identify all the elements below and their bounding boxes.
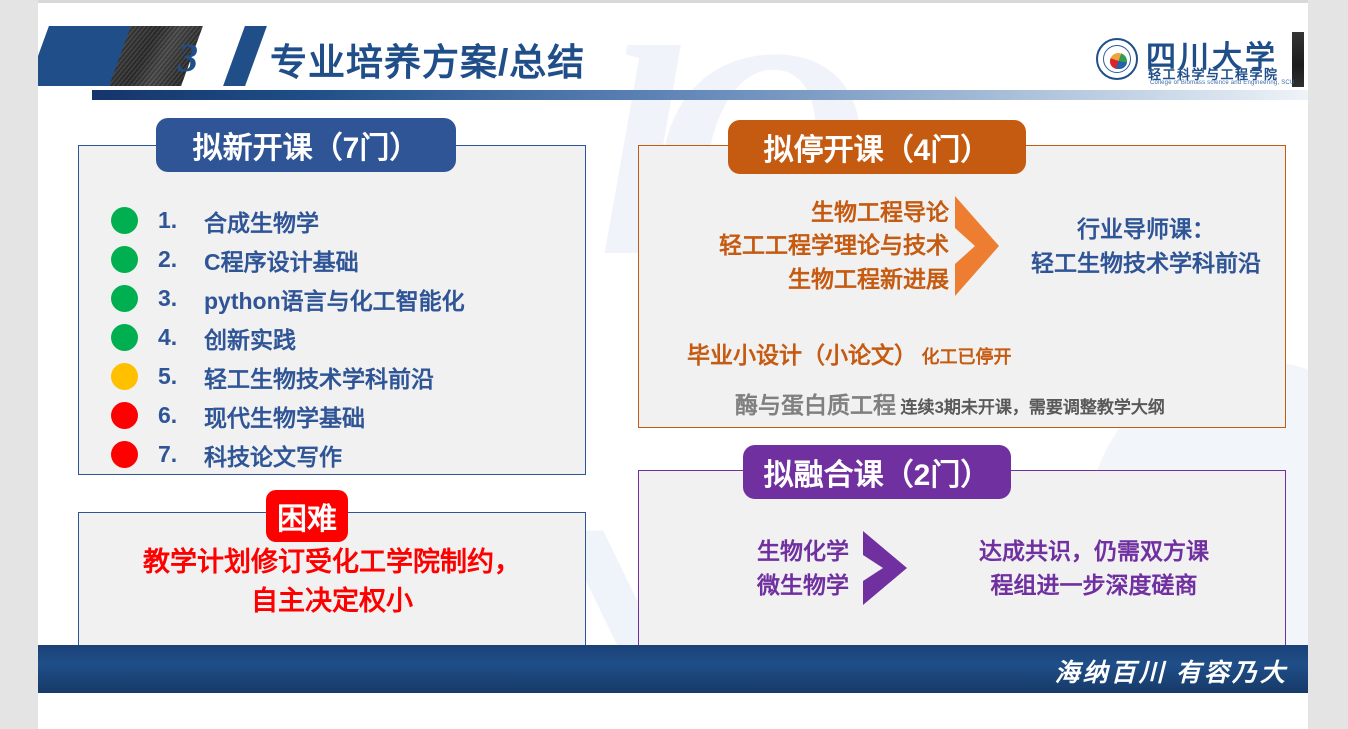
course-name: 合成生物学 bbox=[204, 204, 319, 238]
course-index: 2. bbox=[158, 246, 204, 273]
chevron-right-icon bbox=[951, 194, 1003, 298]
footer-motto: 海纳百川 有容乃大 bbox=[1055, 653, 1288, 689]
badge-new-courses: 拟新开课（7门） bbox=[156, 118, 456, 172]
page-title: 专业培养方案/总结 bbox=[270, 32, 585, 86]
stop-courses-flow: 生物工程导论 轻工工程学理论与技术 生物工程新进展 行业导师课： 轻工生物技术学… bbox=[639, 194, 1287, 298]
footer-white-strip bbox=[38, 693, 1308, 729]
course-index: 4. bbox=[158, 324, 204, 351]
course-name: 轻工生物技术学科前沿 bbox=[204, 360, 434, 394]
list-item[interactable]: 1. 合成生物学 bbox=[111, 201, 465, 240]
seal-flame-icon bbox=[1110, 53, 1127, 69]
stop-to-line-1: 行业导师课： bbox=[1005, 212, 1287, 247]
status-dot-icon bbox=[111, 285, 138, 312]
slide-header: 3 专业培养方案/总结 四川大学 轻工科学与工程学院 College of Bi… bbox=[38, 0, 1308, 104]
course-name: 创新实践 bbox=[204, 321, 296, 355]
list-item[interactable]: 4. 创新实践 bbox=[111, 318, 465, 357]
stop-note-1: 毕业小设计（小论文） 化工已停开 bbox=[687, 336, 1011, 370]
list-item[interactable]: 5. 轻工生物技术学科前沿 bbox=[111, 357, 465, 396]
status-dot-icon bbox=[111, 363, 138, 390]
status-dot-icon bbox=[111, 402, 138, 429]
course-index: 6. bbox=[158, 402, 204, 429]
stop-to-result: 行业导师课： 轻工生物技术学科前沿 bbox=[1005, 212, 1287, 281]
course-name: C程序设计基础 bbox=[204, 243, 359, 277]
section-number: 3 bbox=[178, 34, 198, 81]
panel-new-courses: 1. 合成生物学 2. C程序设计基础 3. python语言与化工智能化 4.… bbox=[78, 145, 586, 475]
university-seal-icon bbox=[1096, 38, 1138, 80]
header-underline bbox=[92, 90, 1308, 100]
slide-canvas: lQ NC 1896 3 专业培养方案/总结 四川大学 轻工科学与工程学院 Co… bbox=[38, 0, 1308, 729]
course-index: 1. bbox=[158, 207, 204, 234]
header-accent-slash bbox=[223, 26, 267, 86]
status-dot-icon bbox=[111, 207, 138, 234]
difficulty-line-1: 教学计划修订受化工学院制约， bbox=[79, 543, 585, 582]
merge-to-line-2: 程组进一步深度磋商 bbox=[921, 568, 1267, 603]
list-item[interactable]: 6. 现代生物学基础 bbox=[111, 396, 465, 435]
merge-to-result: 达成共识，仍需双方课 程组进一步深度磋商 bbox=[921, 534, 1287, 603]
stop-from-course-2: 轻工工程学理论与技术 bbox=[639, 229, 949, 262]
stop-to-line-2: 轻工生物技术学科前沿 bbox=[1005, 246, 1287, 281]
stop-from-course-1: 生物工程导论 bbox=[639, 196, 949, 229]
stop-note-1-course: 毕业小设计（小论文） bbox=[687, 342, 917, 368]
badge-difficulty: 困难 bbox=[266, 490, 348, 542]
stop-from-courses: 生物工程导论 轻工工程学理论与技术 生物工程新进展 bbox=[639, 196, 949, 296]
list-item[interactable]: 2. C程序设计基础 bbox=[111, 240, 465, 279]
badge-merge-courses: 拟融合课（2门） bbox=[743, 445, 1011, 499]
merge-from-course-1: 生物化学 bbox=[639, 534, 849, 569]
status-dot-icon bbox=[111, 324, 138, 351]
status-dot-icon bbox=[111, 246, 138, 273]
university-logo: 四川大学 轻工科学与工程学院 College of Biomass scienc… bbox=[1096, 32, 1304, 90]
merge-from-course-2: 微生物学 bbox=[639, 568, 849, 603]
stop-note-1-comment: 化工已停开 bbox=[921, 347, 1011, 367]
list-item[interactable]: 7. 科技论文写作 bbox=[111, 435, 465, 474]
difficulty-line-2: 自主决定权小 bbox=[79, 582, 585, 621]
merge-to-line-1: 达成共识，仍需双方课 bbox=[921, 534, 1267, 569]
merge-courses-flow: 生物化学 微生物学 达成共识，仍需双方课 程组进一步深度磋商 bbox=[639, 529, 1287, 607]
list-item[interactable]: 3. python语言与化工智能化 bbox=[111, 279, 465, 318]
course-index: 5. bbox=[158, 363, 204, 390]
status-dot-icon bbox=[111, 441, 138, 468]
stop-note-2-course: 酶与蛋白质工程 bbox=[735, 392, 896, 418]
merge-from-courses: 生物化学 微生物学 bbox=[639, 534, 849, 603]
panel-stop-courses: 生物工程导论 轻工工程学理论与技术 生物工程新进展 行业导师课： 轻工生物技术学… bbox=[638, 145, 1286, 428]
course-name: 科技论文写作 bbox=[204, 438, 342, 472]
course-name: python语言与化工智能化 bbox=[204, 282, 465, 316]
stop-note-2: 酶与蛋白质工程 连续3期未开课，需要调整教学大纲 bbox=[735, 386, 1165, 420]
screenshot-root: lQ NC 1896 3 专业培养方案/总结 四川大学 轻工科学与工程学院 Co… bbox=[0, 0, 1348, 729]
course-name: 现代生物学基础 bbox=[204, 399, 365, 433]
chevron-right-icon bbox=[859, 529, 911, 607]
course-index: 3. bbox=[158, 285, 204, 312]
badge-stop-courses: 拟停开课（4门） bbox=[728, 120, 1026, 174]
logo-college-name-en: College of Biomass science and Engineeri… bbox=[1150, 80, 1294, 86]
new-course-list: 1. 合成生物学 2. C程序设计基础 3. python语言与化工智能化 4.… bbox=[111, 201, 465, 474]
slide-footer: 海纳百川 有容乃大 bbox=[38, 645, 1308, 693]
difficulty-text: 教学计划修订受化工学院制约， 自主决定权小 bbox=[79, 543, 585, 621]
stop-note-2-comment: 连续3期未开课，需要调整教学大纲 bbox=[900, 398, 1164, 417]
stop-from-course-3: 生物工程新进展 bbox=[639, 263, 949, 296]
course-index: 7. bbox=[158, 441, 204, 468]
